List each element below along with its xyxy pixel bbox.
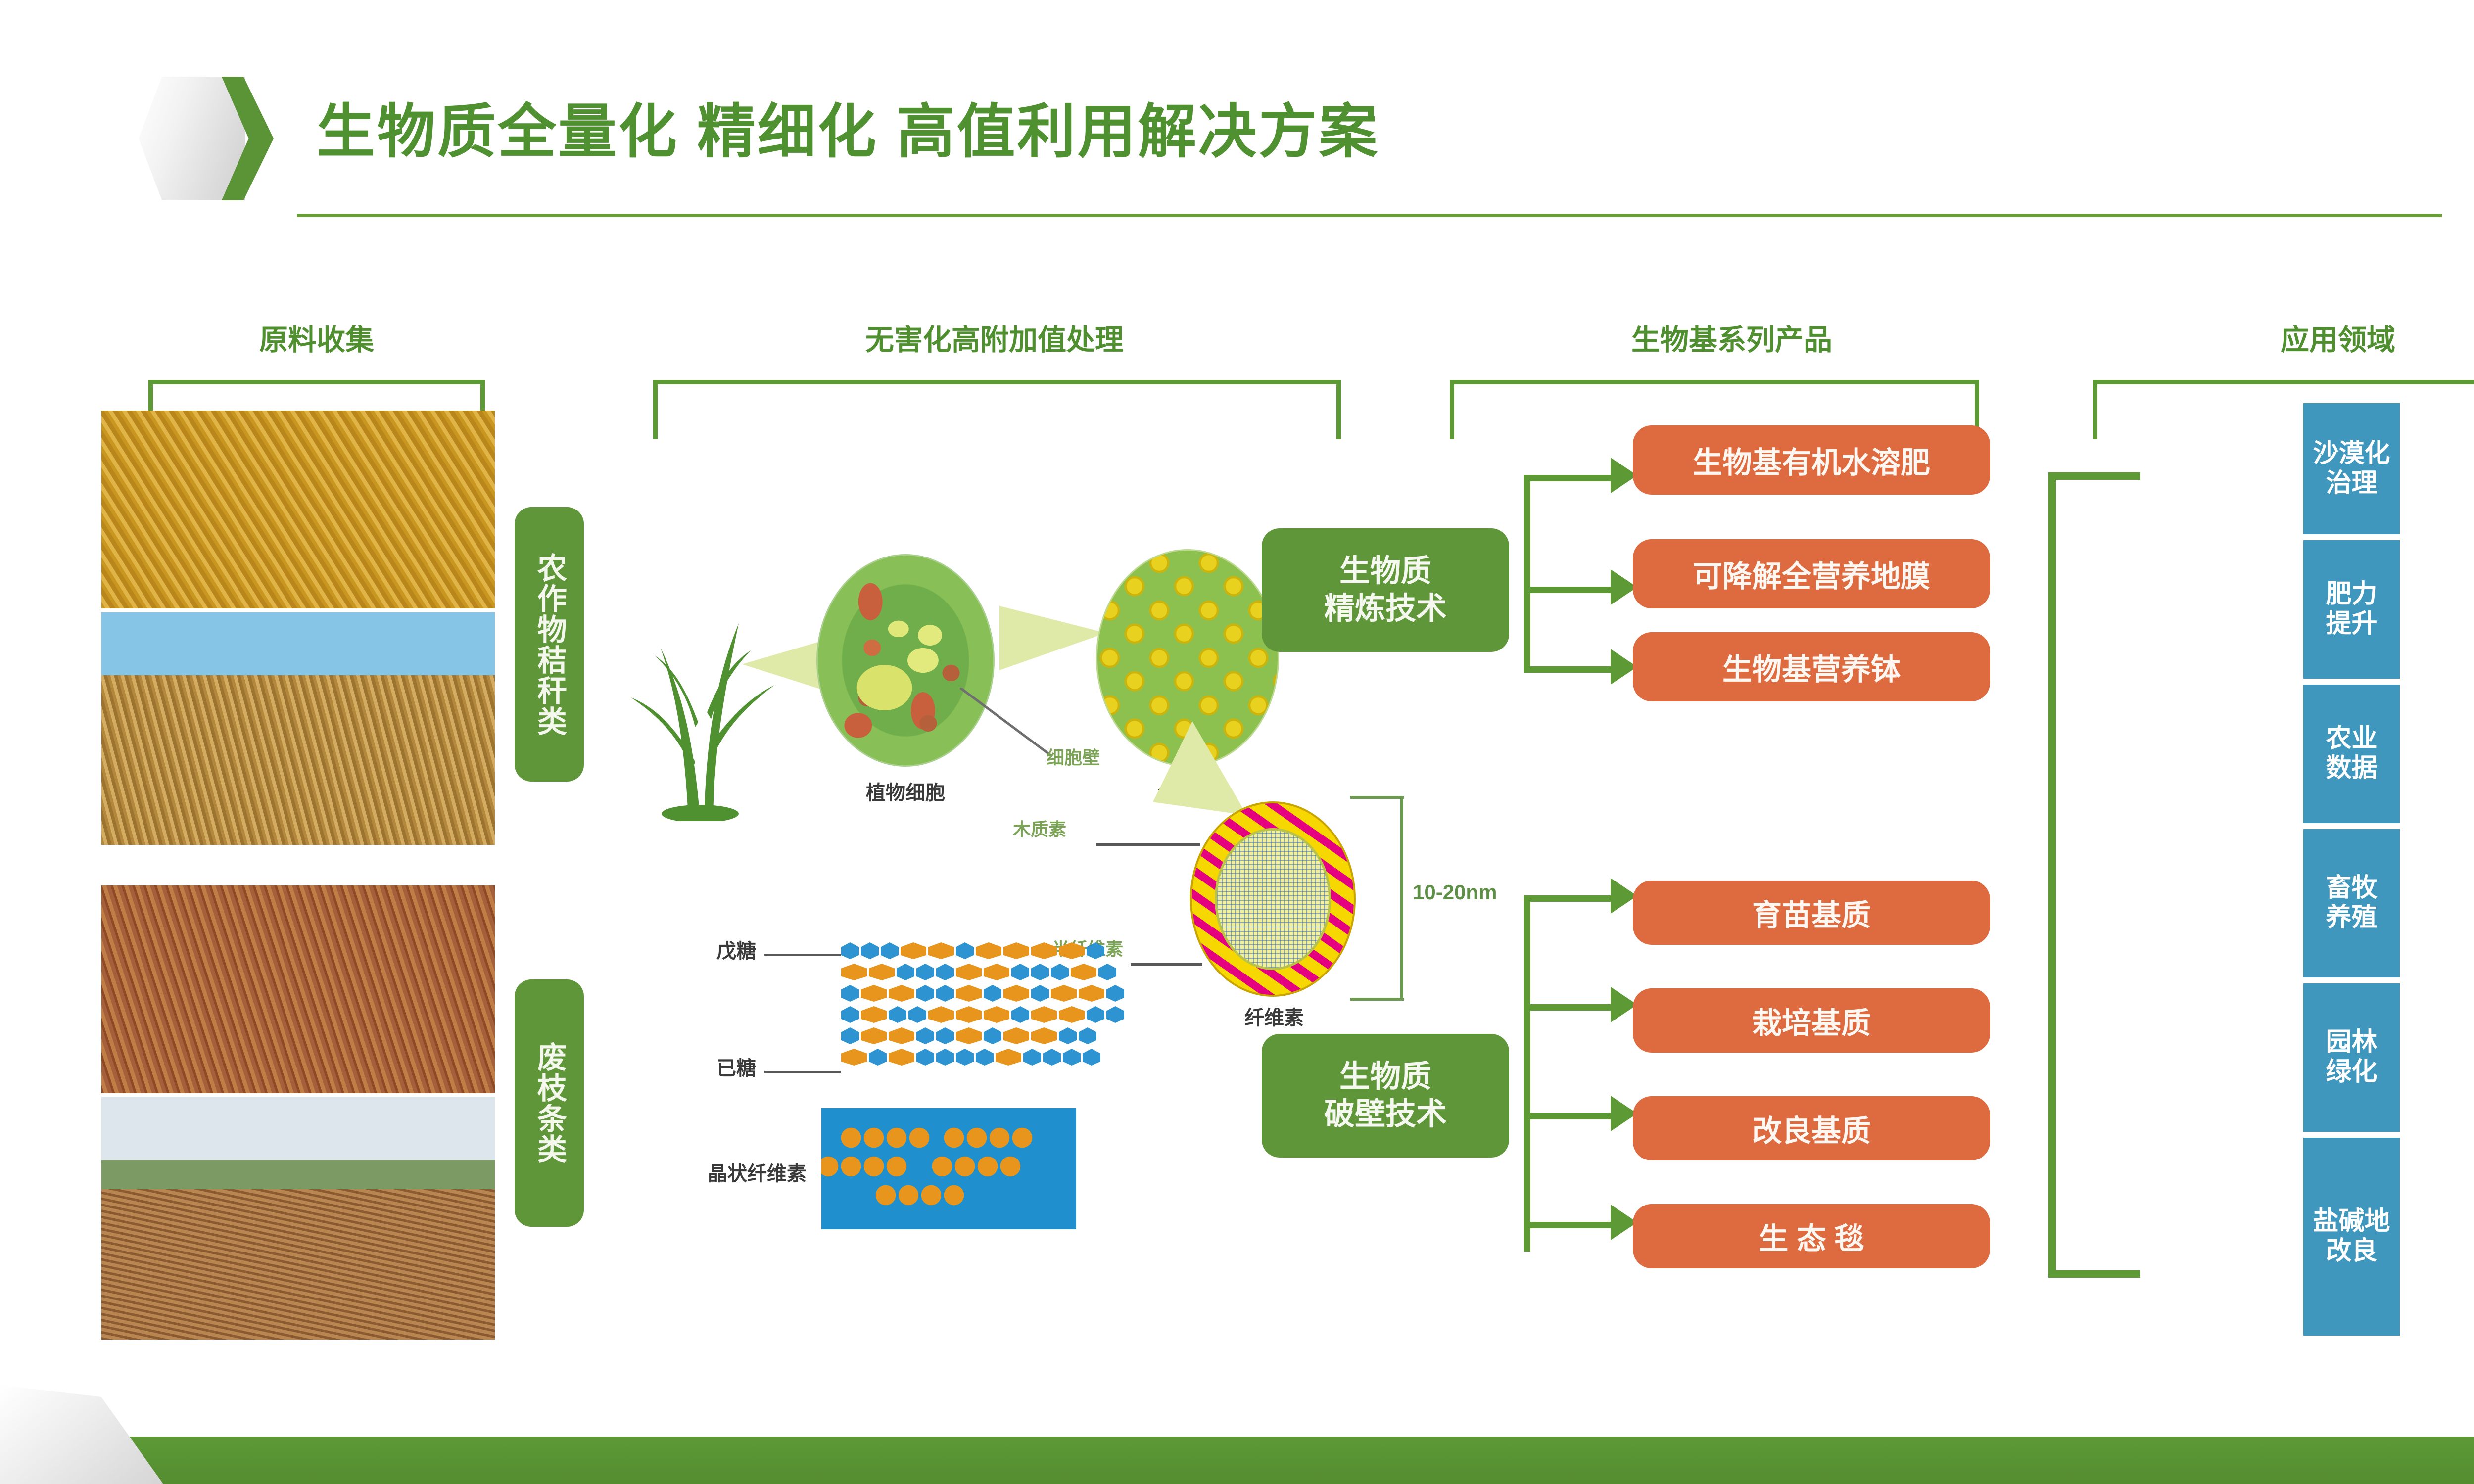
label-cellulose: 纤维素 — [1195, 1002, 1353, 1030]
product-bio-water-soluble-fertilizer[interactable]: 生物基有机水溶肥 — [1633, 425, 1990, 495]
leader-line-hexose — [764, 1071, 841, 1073]
raw-tag-waste-branches: 废枝条类 — [515, 979, 584, 1227]
tech-box-wallbreaking[interactable]: 生物质 破壁技术 — [1262, 1034, 1509, 1158]
application-label-livestock: 畜牧 养殖 — [2303, 829, 2400, 977]
leader-line-pentose — [764, 954, 841, 956]
application-row-agri-data[interactable]: 农业 数据 — [2120, 685, 2400, 823]
label-fiber-diameter: 10-20nm — [1413, 881, 1497, 904]
leader-line-lignin — [1096, 835, 1202, 855]
connector-branch-refining-3 — [1524, 666, 1613, 673]
bottom-green-bar — [0, 1437, 2474, 1484]
product-biodegradable-nutrient-mulch-film[interactable]: 可降解全营养地膜 — [1633, 539, 1990, 608]
hexagon-gray-shape — [139, 77, 245, 200]
crystalline-cellulose-diagram — [821, 1108, 1076, 1229]
raw-photo-branches — [101, 885, 495, 1093]
app-saline-line2: 改良 — [2326, 1237, 2377, 1266]
app-data-line1: 农业 — [2326, 724, 2377, 754]
application-row-desert[interactable]: 沙漠化 治理 — [2120, 403, 2400, 534]
connector-spine-applications — [2048, 472, 2056, 1278]
app-fertility-line2: 提升 — [2326, 609, 2377, 639]
page-title: 生物质全量化 精细化 高值利用解决方案 — [317, 84, 1380, 169]
application-label-saline-soil: 盐碱地 改良 — [2303, 1138, 2400, 1336]
app-livestock-line1: 畜牧 — [2326, 874, 2377, 903]
column-header-applications: 应用领域 — [2123, 317, 2474, 358]
label-lignin: 木质素 — [1013, 815, 1066, 841]
application-row-saline-soil[interactable]: 盐碱地 改良 — [2120, 1138, 2400, 1336]
application-photo-cabbage-field — [2120, 540, 2303, 679]
application-photo-desert-restoration — [2120, 403, 2303, 534]
plant-silhouette-icon — [626, 549, 779, 821]
raw-tag-crop-straw: 农作物秸秆类 — [515, 507, 584, 782]
column-header-raw: 原料收集 — [129, 317, 505, 358]
app-saline-line1: 盐碱地 — [2313, 1207, 2390, 1237]
dimension-bracket-fiber — [1348, 795, 1413, 1003]
infographic-canvas: 生物质全量化 精细化 高值利用解决方案 原料收集 无害化高附加值处理 生物基系列… — [0, 0, 2474, 1484]
tech-wallbreaking-line2: 破壁技术 — [1324, 1096, 1447, 1133]
label-pentose: 戊糖 — [716, 935, 756, 964]
app-landscaping-line2: 绿化 — [2326, 1058, 2377, 1087]
app-desert-line1: 沙漠化 — [2313, 439, 2390, 469]
raw-photo-straw-bale — [101, 612, 495, 845]
product-ecological-blanket[interactable]: 生 态 毯 — [1633, 1204, 1990, 1268]
bracket-process — [653, 380, 1341, 439]
product-seedling-substrate[interactable]: 育苗基质 — [1633, 881, 1990, 945]
cellulose-core — [1215, 828, 1331, 970]
hexagon-badge-icon — [139, 77, 272, 200]
tech-refining-line1: 生物质 — [1339, 553, 1431, 590]
application-label-desert: 沙漠化 治理 — [2303, 403, 2400, 534]
application-photo-sheep-pasture — [2120, 829, 2303, 977]
app-livestock-line2: 养殖 — [2326, 903, 2377, 933]
column-header-products: 生物基系列产品 — [1435, 317, 2029, 358]
title-underline-rule — [297, 214, 2442, 217]
app-desert-line2: 治理 — [2326, 469, 2377, 499]
app-data-line2: 数据 — [2326, 754, 2377, 784]
app-fertility-line1: 肥力 — [2326, 580, 2377, 609]
connector-spine-refining — [1524, 475, 1530, 673]
application-row-livestock[interactable]: 畜牧 养殖 — [2120, 829, 2400, 977]
raw-photo-orchard-clearing — [101, 1097, 495, 1340]
zoom-cone-cell-to-fiber — [999, 606, 1106, 670]
bottom-left-wedge-shape — [0, 1385, 163, 1484]
tech-box-refining[interactable]: 生物质 精炼技术 — [1262, 528, 1509, 652]
connector-branch-wall-1 — [1524, 895, 1613, 902]
application-photo-saline-alkali-soil — [2120, 1138, 2303, 1336]
label-hexose: 已糖 — [716, 1052, 756, 1081]
raw-photo-corn-straw — [101, 411, 495, 608]
app-landscaping-line1: 园林 — [2326, 1028, 2377, 1058]
label-cell-wall: 细胞壁 — [1047, 743, 1100, 769]
connector-branch-refining-2 — [1524, 587, 1613, 593]
connector-branch-refining-1 — [1524, 475, 1613, 481]
column-header-process: 无害化高附加值处理 — [648, 317, 1341, 358]
tech-refining-line2: 精炼技术 — [1324, 590, 1447, 628]
connector-branch-wall-3 — [1524, 1113, 1613, 1119]
leader-line-hemicellulose — [1131, 955, 1205, 974]
application-label-agri-data: 农业 数据 — [2303, 685, 2400, 823]
application-photo-agri-data-room — [2120, 685, 2303, 823]
connector-spine-wallbreaking — [1524, 895, 1530, 1252]
application-row-landscaping[interactable]: 园林 绿化 — [2120, 983, 2400, 1132]
fiber-cross-section-illustration — [1190, 801, 1356, 997]
application-label-landscaping: 园林 绿化 — [2303, 983, 2400, 1132]
application-label-fertility: 肥力 提升 — [2303, 540, 2400, 679]
product-bio-nutrient-pot[interactable]: 生物基营养钵 — [1633, 632, 1990, 701]
tech-wallbreaking-line1: 生物质 — [1339, 1058, 1431, 1096]
connector-branch-wall-2 — [1524, 1004, 1613, 1011]
sugar-chain-diagram — [841, 942, 1124, 1070]
application-row-fertility[interactable]: 肥力 提升 — [2120, 540, 2400, 679]
product-improvement-substrate[interactable]: 改良基质 — [1633, 1096, 1990, 1160]
application-photo-park-greening — [2120, 983, 2303, 1132]
label-crystalline-cellulose: 晶状纤维素 — [708, 1158, 807, 1186]
label-plant-cell: 植物细胞 — [811, 777, 999, 805]
product-cultivation-substrate[interactable]: 栽培基质 — [1633, 988, 1990, 1053]
connector-branch-wall-4 — [1524, 1222, 1613, 1228]
